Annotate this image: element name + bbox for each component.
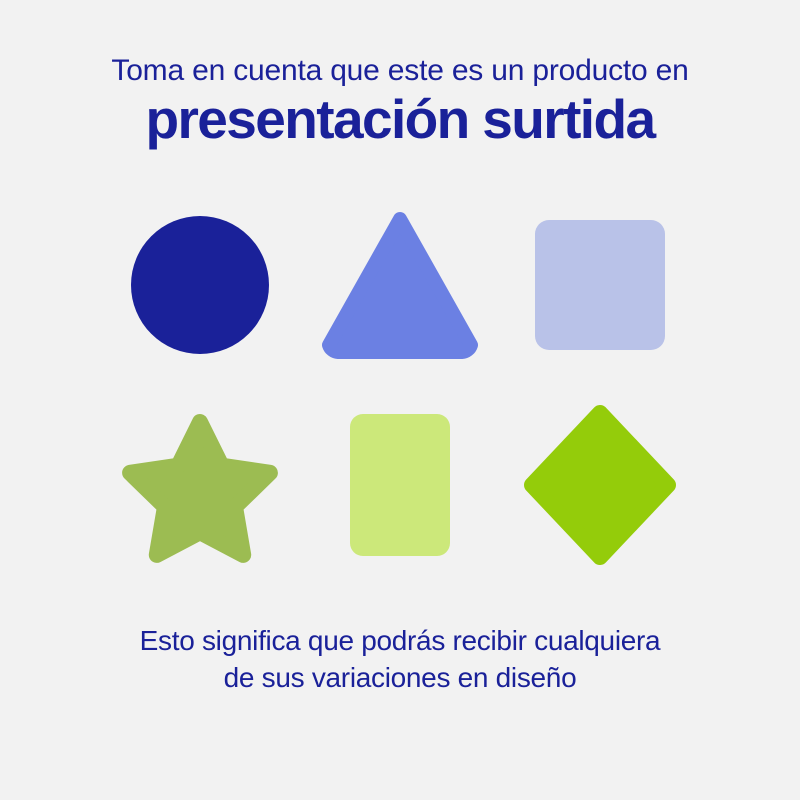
shape-cell-square	[500, 185, 700, 385]
heading-block: Toma en cuenta que este es un producto e…	[50, 56, 750, 147]
diamond-shape-icon	[524, 405, 676, 565]
rounded-rectangle-shape-icon	[350, 414, 450, 556]
shape-cell-circle	[100, 185, 300, 385]
circle-shape-icon	[130, 215, 270, 355]
footer-block: Esto significa que podrás recibir cualqu…	[60, 623, 740, 697]
heading-line-emphasis: presentación surtida	[50, 92, 750, 147]
shape-variants-grid	[100, 185, 700, 585]
shape-cell-star	[100, 385, 300, 585]
footer-line-1: Esto significa que podrás recibir cualqu…	[60, 623, 740, 660]
star-shape-icon	[125, 413, 275, 557]
heading-line-primary: Toma en cuenta que este es un producto e…	[50, 56, 750, 86]
product-variant-notice-card: Toma en cuenta que este es un producto e…	[0, 0, 800, 800]
square-shape-icon	[535, 220, 665, 350]
shape-cell-diamond	[500, 385, 700, 585]
shape-cell-rectangle	[300, 385, 500, 585]
triangle-shape-icon	[325, 215, 475, 355]
footer-line-2: de sus variaciones en diseño	[60, 660, 740, 697]
shape-cell-triangle	[300, 185, 500, 385]
